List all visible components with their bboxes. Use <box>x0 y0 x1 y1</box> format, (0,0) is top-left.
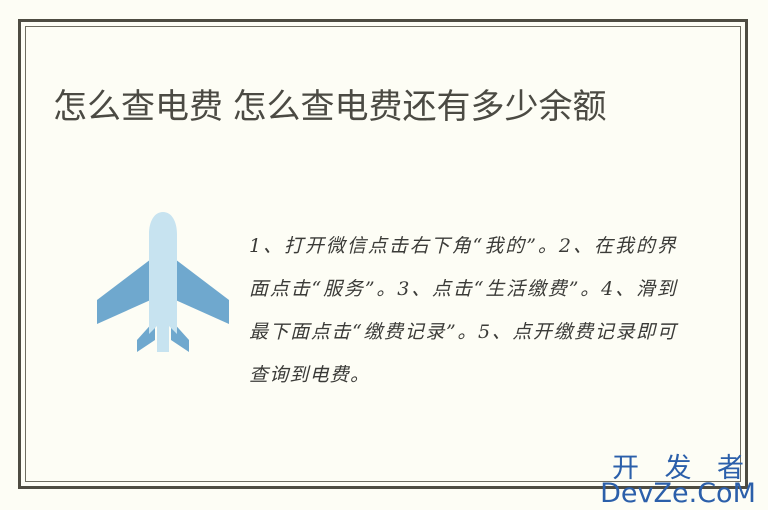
article-content: 怎么查电费 怎么查电费还有多少余额 1、打开微信点击右下角“我的”。2、在我的界… <box>25 26 741 482</box>
airplane-icon <box>93 212 233 352</box>
article-body-text: 1、打开微信点击右下角“我的”。2、在我的界面点击“服务”。3、点击“生活缴费”… <box>249 225 677 397</box>
page-root: 怎么查电费 怎么查电费还有多少余额 1、打开微信点击右下角“我的”。2、在我的界… <box>0 0 768 510</box>
article-body-block: 1、打开微信点击右下角“我的”。2、在我的界面点击“服务”。3、点击“生活缴费”… <box>53 206 713 441</box>
page-title: 怎么查电费 怎么查电费还有多少余额 <box>53 82 673 132</box>
